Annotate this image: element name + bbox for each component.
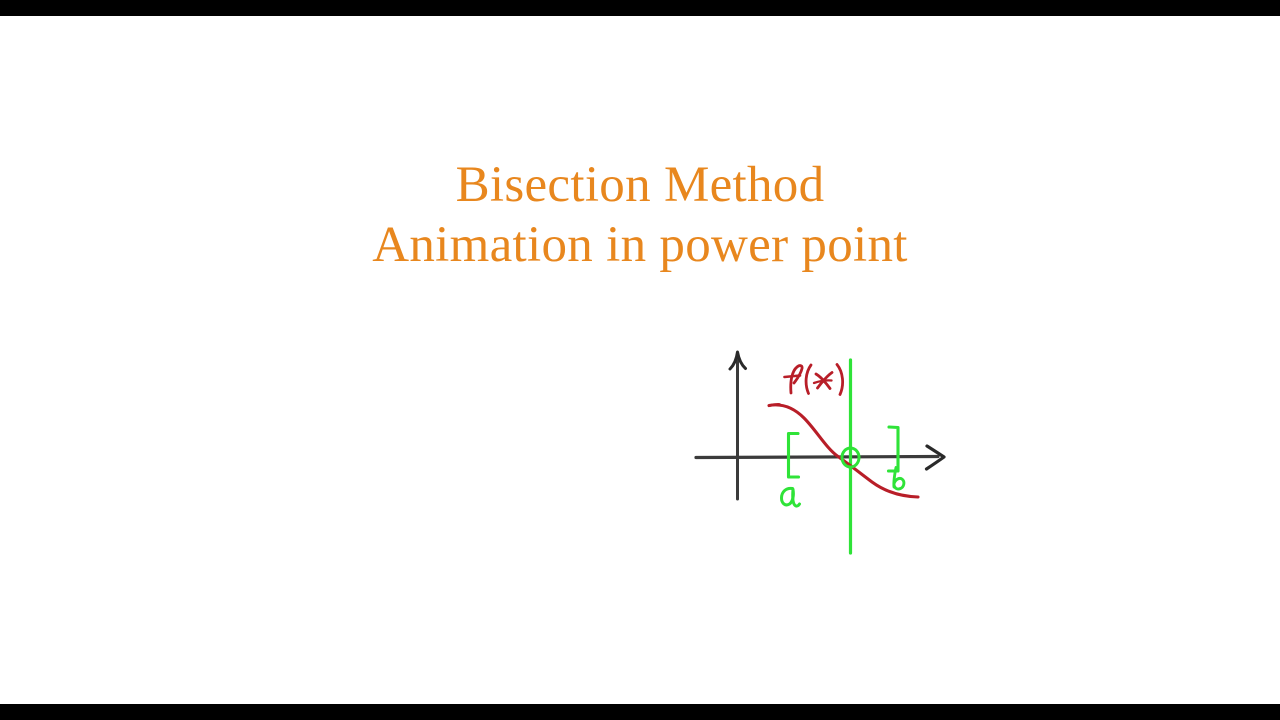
left-endpoint-label bbox=[782, 488, 800, 506]
bisection-diagram-svg bbox=[680, 321, 980, 561]
video-frame: Bisection Method Animation in power poin… bbox=[0, 0, 1280, 720]
bisection-diagram bbox=[680, 321, 980, 561]
slide-canvas: Bisection Method Animation in power poin… bbox=[0, 16, 1280, 704]
letterbox-top-bar bbox=[0, 0, 1280, 16]
page-title: Bisection Method Animation in power poin… bbox=[0, 156, 1280, 275]
y-axis bbox=[730, 352, 746, 499]
interval-right-bracket bbox=[889, 427, 899, 471]
function-curve-left-tail bbox=[769, 404, 780, 405]
letterbox-bottom-bar bbox=[0, 704, 1280, 720]
function-label bbox=[785, 365, 843, 395]
title-line-2: Animation in power point bbox=[0, 216, 1280, 276]
x-axis bbox=[696, 446, 944, 469]
title-line-1: Bisection Method bbox=[0, 156, 1280, 216]
interval-left-bracket bbox=[789, 434, 799, 478]
